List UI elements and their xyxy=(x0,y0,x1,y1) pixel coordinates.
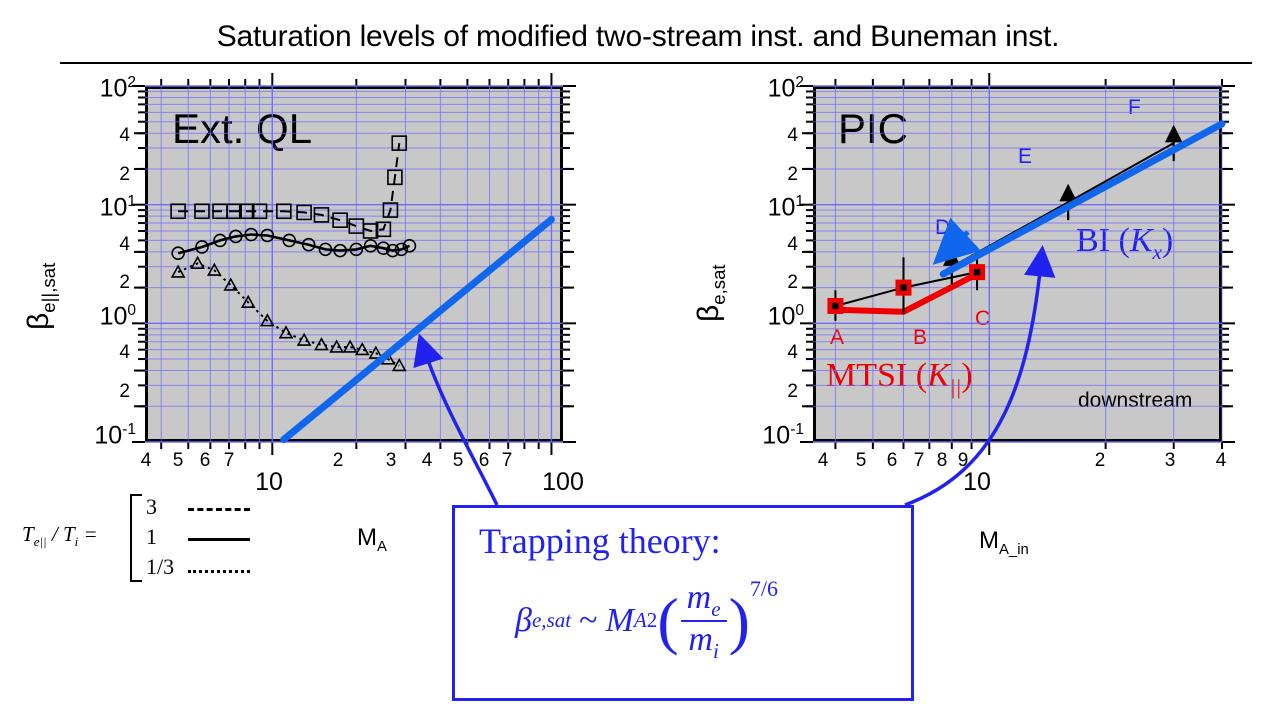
legend-key-solid xyxy=(188,538,250,541)
left-ytick-10: 101 xyxy=(58,193,136,222)
left-ytick-40: 4 xyxy=(96,125,130,147)
right-ytick-20: 2 xyxy=(764,164,798,186)
left-xtick-100: 100 xyxy=(528,468,598,497)
left-x-axis-label: MA xyxy=(357,524,387,555)
left-xtick-5: 5 xyxy=(165,450,191,472)
left-y-axis-label: βe||,sat xyxy=(22,263,60,330)
left-xtick-3b: 3 xyxy=(378,450,404,472)
left-xtick-2: 2 xyxy=(325,450,351,472)
point-label-C: C xyxy=(975,307,990,331)
legend-value-3: 3 xyxy=(146,494,157,520)
right-xtick-3: 3 xyxy=(1157,450,1183,472)
right-ytick-01: 10-1 xyxy=(726,421,804,450)
left-xtick-5b: 5 xyxy=(445,450,471,472)
right-ytick-10: 101 xyxy=(726,193,804,222)
point-label-E: E xyxy=(1018,145,1032,169)
figure-root: Saturation levels of modified two-stream… xyxy=(0,0,1276,707)
legend-key-dashed xyxy=(188,508,250,511)
left-ytick-02: 2 xyxy=(96,381,130,403)
legend-brace xyxy=(130,494,142,582)
page-title: Saturation levels of modified two-stream… xyxy=(0,20,1276,54)
left-xtick-6: 6 xyxy=(192,450,218,472)
legend-value-1-3: 1/3 xyxy=(146,554,174,580)
right-ytick-2: 2 xyxy=(764,272,798,294)
right-ytick-02: 2 xyxy=(764,381,798,403)
left-xtick-4: 4 xyxy=(133,450,159,472)
right-ytick-100: 102 xyxy=(726,74,804,103)
right-y-axis-beta: β xyxy=(692,305,725,322)
right-x-axis-label: MA_in xyxy=(979,527,1029,558)
right-ytick-1: 100 xyxy=(726,302,804,331)
left-panel-tag: Ext. QL xyxy=(172,105,312,153)
left-ytick-1: 100 xyxy=(58,302,136,331)
temperature-ratio-legend: Te|| / Ti = 3 1 1/3 xyxy=(22,492,272,584)
point-label-A: A xyxy=(830,326,844,350)
left-y-axis-sub: e||,sat xyxy=(38,263,59,313)
right-xtick-4b: 4 xyxy=(1208,450,1234,472)
right-y-axis-sub: e,sat xyxy=(708,264,729,304)
bi-series-label: BI (Kx) xyxy=(1076,222,1173,265)
callout-title: Trapping theory: xyxy=(479,520,721,562)
right-xtick-2: 2 xyxy=(1087,450,1113,472)
left-ytick-04: 4 xyxy=(96,342,130,364)
left-ytick-01: 10-1 xyxy=(58,421,136,450)
point-label-F: F xyxy=(1128,96,1141,120)
point-label-B: B xyxy=(913,326,927,350)
point-label-D: D xyxy=(935,216,950,240)
right-ytick-4: 4 xyxy=(764,234,798,256)
mtsi-series-label: MTSI (K||) xyxy=(826,357,973,400)
callout-formula: βe,sat ~ MA2 ( me mi ) 7/6 xyxy=(515,580,778,662)
left-plot-area: Ext. QL xyxy=(145,86,563,442)
right-xtick-5: 5 xyxy=(848,450,874,472)
left-ytick-20: 2 xyxy=(96,164,130,186)
left-xtick-4b: 4 xyxy=(414,450,440,472)
trapping-theory-callout: Trapping theory: βe,sat ~ MA2 ( me mi ) … xyxy=(452,505,914,701)
legend-ratio-expression: Te|| / Ti = xyxy=(22,522,98,550)
right-ytick-40: 4 xyxy=(764,125,798,147)
right-xtick-10: 10 xyxy=(953,468,1001,497)
left-xtick-7b: 7 xyxy=(494,450,520,472)
right-xtick-4: 4 xyxy=(810,450,836,472)
legend-value-1: 1 xyxy=(146,524,157,550)
left-ytick-100: 102 xyxy=(58,74,136,103)
right-ytick-04: 4 xyxy=(764,342,798,364)
left-ytick-2: 2 xyxy=(96,272,130,294)
left-ytick-4: 4 xyxy=(96,234,130,256)
left-xtick-7: 7 xyxy=(216,450,242,472)
left-y-axis-beta: β xyxy=(22,313,55,330)
downstream-note: downstream xyxy=(1078,389,1192,413)
title-underline xyxy=(60,62,1252,64)
right-y-axis-label: βe,sat xyxy=(692,264,730,322)
legend-key-dotted xyxy=(188,570,250,573)
right-xtick-6: 6 xyxy=(879,450,905,472)
right-panel-tag: PIC xyxy=(838,105,908,153)
